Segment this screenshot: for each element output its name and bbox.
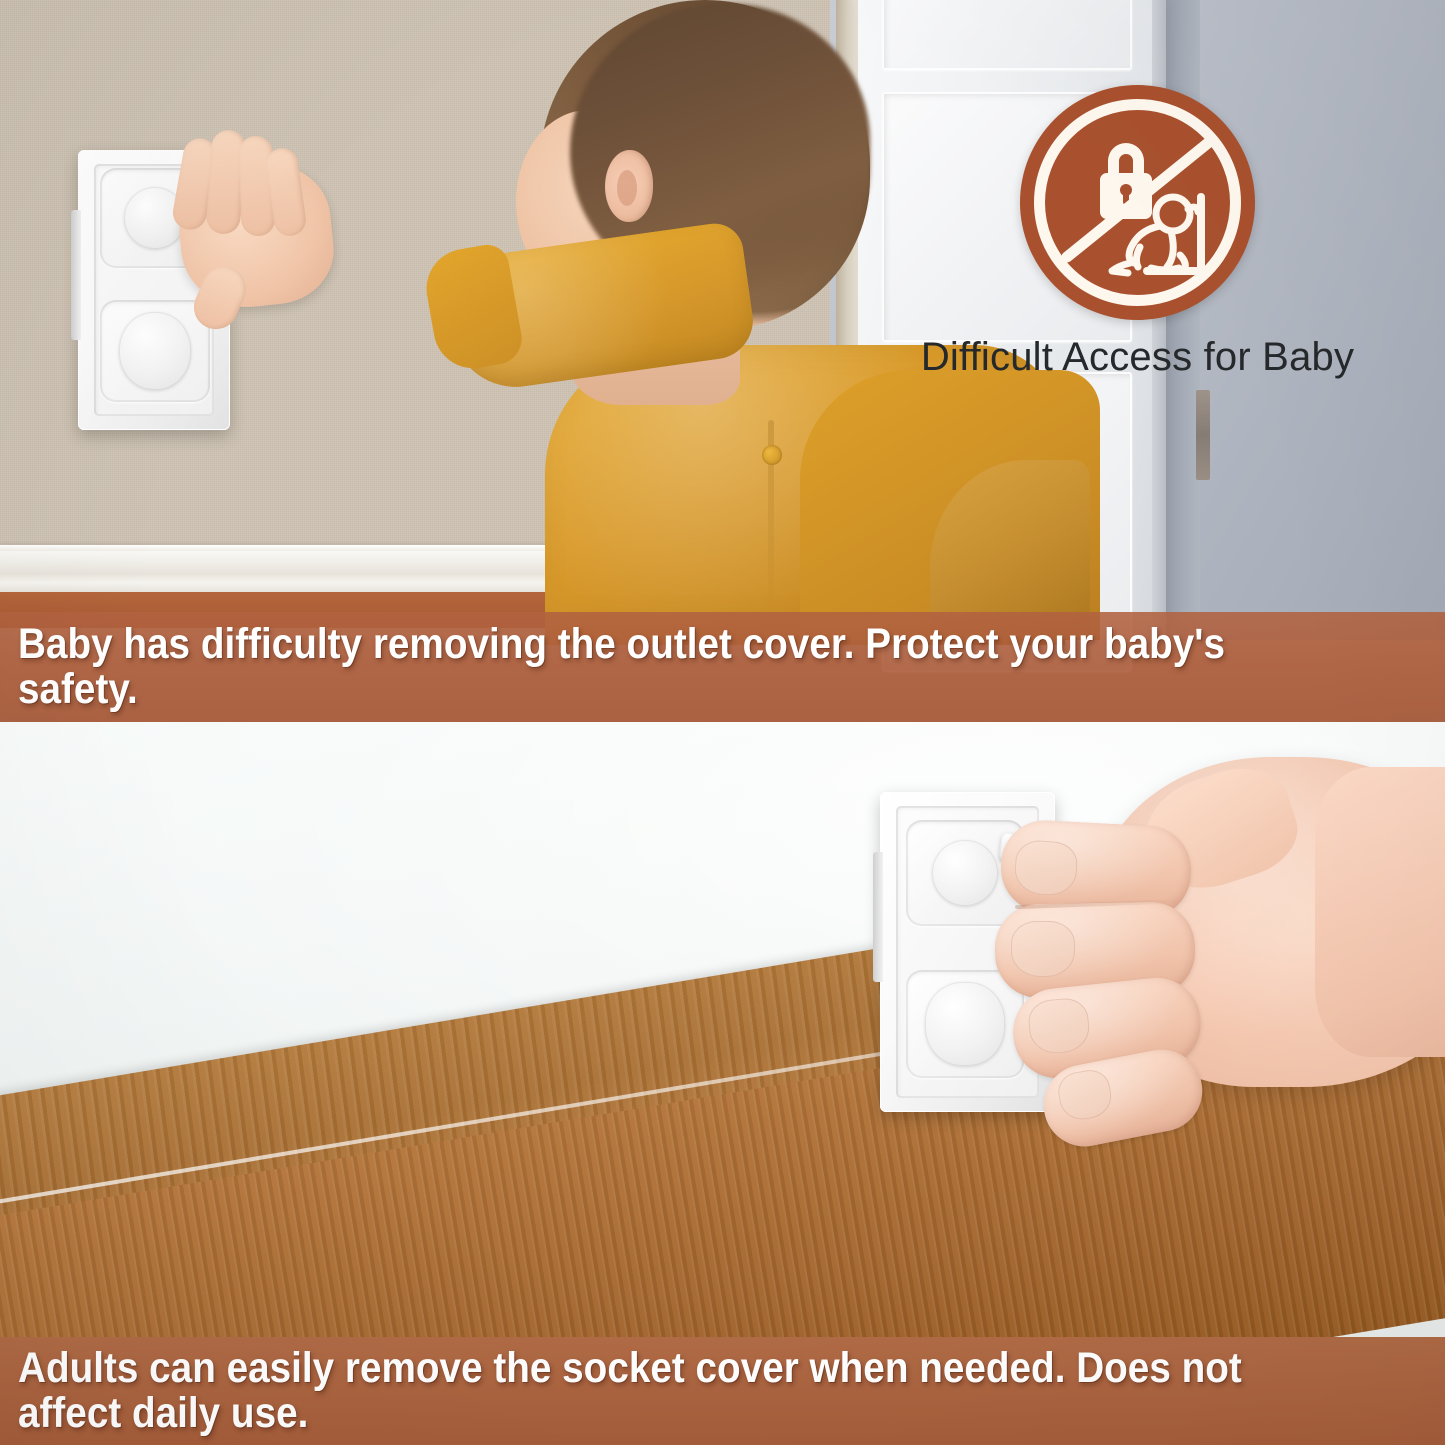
adult-hand: [985, 757, 1445, 1177]
no-baby-access-locked-icon: [1020, 85, 1255, 320]
banner-adult-access: Adults can easily remove the socket cove…: [0, 1337, 1445, 1445]
badge-circle: [1020, 85, 1255, 320]
banner-baby-safety-text: Baby has difficulty removing the outlet …: [0, 622, 1301, 711]
badge-difficult-access-for-baby: Difficult Access for Baby: [1020, 85, 1255, 320]
baby-figure: [330, 0, 1030, 630]
hand-wrist: [1315, 767, 1445, 1057]
baby-ear: [605, 150, 653, 222]
socket-lower: [100, 300, 210, 402]
badge-label-difficult-access: Difficult Access for Baby: [921, 335, 1354, 380]
plate-side-edge: [873, 852, 883, 982]
baby-shirt-button: [762, 445, 782, 465]
plate-side-edge: [71, 210, 81, 340]
product-feature-image: Difficult Access for Baby Baby has diffi…: [0, 0, 1445, 1445]
socket-knob-lower: [119, 312, 191, 390]
banner-adult-access-text: Adults can easily remove the socket cove…: [0, 1346, 1301, 1435]
fingernail: [1011, 921, 1075, 977]
door-hinge: [1196, 390, 1210, 480]
banner-baby-safety: Baby has difficulty removing the outlet …: [0, 612, 1445, 722]
